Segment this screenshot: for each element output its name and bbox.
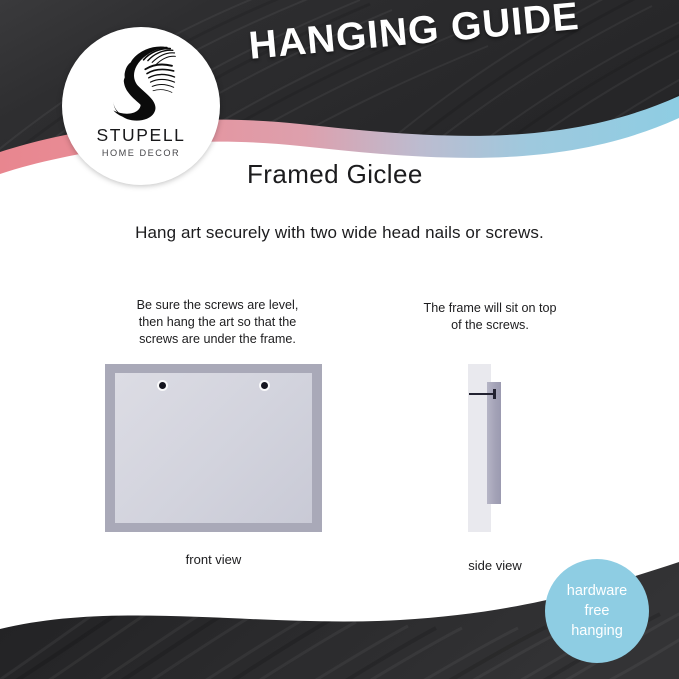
stupell-swirl-s-icon [98, 43, 184, 123]
side-view-instruction: The frame will sit on top of the screws. [385, 300, 595, 334]
screw-head-icon [493, 389, 496, 399]
brand-logo-badge: STUPELL HOME DECOR [62, 27, 220, 185]
front-view-instruction-line-2: then hang the art so that the [96, 314, 339, 331]
brand-name: STUPELL [96, 125, 185, 146]
badge-line-1: hardware [567, 581, 627, 601]
badge-line-3: hanging [571, 621, 623, 641]
screw-dot-left [159, 382, 166, 389]
front-view-instruction-line-1: Be sure the screws are level, [96, 297, 339, 314]
hardware-free-hanging-badge: hardware free hanging [545, 559, 649, 663]
intro-instruction: Hang art securely with two wide head nai… [0, 223, 679, 243]
front-view-caption: front view [105, 552, 322, 567]
front-view-instruction: Be sure the screws are level, then hang … [96, 297, 339, 348]
badge-line-2: free [585, 601, 610, 621]
frame-profile [487, 382, 501, 504]
screw-dot-right [261, 382, 268, 389]
side-view-instruction-line-1: The frame will sit on top [385, 300, 595, 317]
screw-shaft-icon [469, 393, 496, 395]
side-view-diagram [462, 364, 528, 532]
side-view-instruction-line-2: of the screws. [385, 317, 595, 334]
hanging-guide-page: STUPELL HOME DECOR HANGING GUIDE Framed … [0, 0, 679, 679]
front-view-diagram [105, 364, 322, 532]
brand-tagline: HOME DECOR [102, 148, 180, 158]
product-type-title: Framed Giclee [247, 159, 423, 190]
side-view-caption: side view [430, 558, 560, 573]
frame-inner-art [115, 373, 312, 523]
front-view-instruction-line-3: screws are under the frame. [96, 331, 339, 348]
